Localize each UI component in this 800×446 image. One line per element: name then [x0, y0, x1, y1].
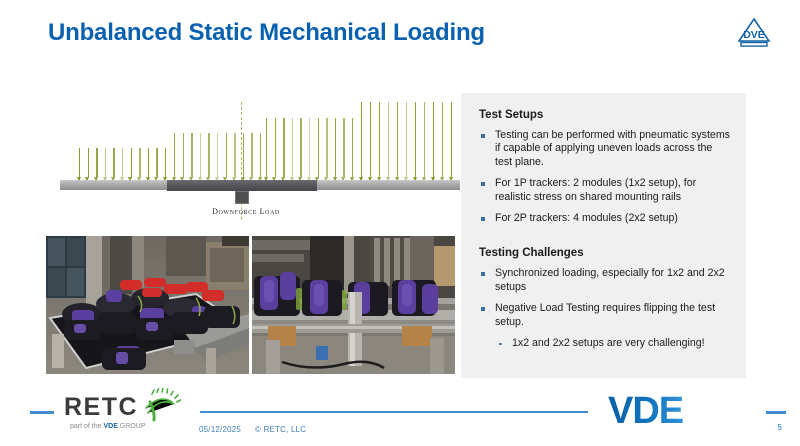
arrow-shaft [208, 133, 209, 178]
svg-text:DVE: DVE [743, 29, 765, 41]
arrow-shaft [260, 133, 261, 178]
arrow-shaft [300, 118, 301, 178]
arrow-shaft [191, 133, 192, 178]
beam-inner [167, 180, 317, 191]
arrow-shaft [275, 118, 276, 178]
arrow-shaft [217, 133, 218, 178]
svg-text:RETC: RETC [64, 393, 138, 421]
vde-approval-mark-icon: DVE [734, 14, 774, 54]
bullet-sub-item: 1x2 and 2x2 setups are very challenging! [479, 337, 732, 350]
page-number: 5 [778, 423, 782, 432]
load-arrow [173, 133, 176, 178]
arrow-shaft [415, 102, 416, 178]
bullet-list-testing-challenges: Synchronized loading, especially for 1x2… [479, 267, 732, 350]
arrow-shaft [96, 148, 97, 178]
load-arrow [274, 118, 277, 178]
load-arrow [369, 102, 372, 178]
arrow-shaft [183, 133, 184, 178]
load-arrow [342, 118, 345, 178]
arrow-shaft [251, 133, 252, 178]
arrow-shaft [156, 148, 157, 178]
arrow-shaft [442, 102, 443, 178]
section-heading-testing-challenges: Testing Challenges [479, 247, 732, 259]
load-arrow [291, 118, 294, 178]
arrow-shaft [266, 118, 267, 178]
arrow-shaft [79, 148, 80, 178]
retc-logo: RETC part of the VDE GROUP [64, 388, 194, 436]
load-arrow [242, 133, 245, 178]
arrow-shaft [113, 148, 114, 178]
arrow-shaft [292, 118, 293, 178]
load-arrow [87, 148, 90, 178]
load-arrow [396, 102, 399, 178]
bullet-item: Negative Load Testing requires flipping … [479, 302, 732, 329]
load-arrow [282, 118, 285, 178]
bullet-item: Synchronized loading, especially for 1x2… [479, 267, 732, 294]
load-arrow [225, 133, 228, 178]
load-arrow [95, 148, 98, 178]
load-arrow [182, 133, 185, 178]
arrow-shaft [370, 102, 371, 178]
beam-pedestal [235, 191, 249, 204]
arrow-shaft [226, 133, 227, 178]
arrow-shaft [361, 102, 362, 178]
load-arrow [387, 102, 390, 178]
page-title: Unbalanced Static Mechanical Loading [48, 19, 485, 47]
arrow-shaft [88, 148, 89, 178]
arrow-shaft [318, 118, 319, 178]
arrow-shaft [352, 118, 353, 178]
load-arrow [450, 102, 453, 178]
arrow-shaft [131, 148, 132, 178]
retc-tagline: part of the VDE GROUP [70, 423, 146, 430]
photo-sandbag-array-top-view [46, 236, 249, 374]
load-arrow [190, 133, 193, 178]
arrow-shaft [397, 102, 398, 178]
load-arrow [164, 148, 167, 178]
arrow-shaft [148, 148, 149, 178]
arrow-shaft [165, 148, 166, 178]
load-arrow [233, 133, 236, 178]
load-arrow [414, 102, 417, 178]
bullet-item: For 1P trackers: 2 modules (1x2 setup), … [479, 177, 732, 204]
bullet-list-test-setups: Testing can be performed with pneumatic … [479, 129, 732, 225]
footer-rule-left [30, 411, 54, 414]
arrow-shaft [174, 133, 175, 178]
arrow-shaft [379, 102, 380, 178]
arrow-shaft [343, 118, 344, 178]
section-heading-test-setups: Test Setups [479, 109, 732, 121]
load-arrow [216, 133, 219, 178]
svg-text:VDE: VDE [608, 391, 683, 429]
load-arrow [138, 148, 141, 178]
load-arrow [378, 102, 381, 178]
photo-sandbag-array-side-view [252, 236, 455, 374]
load-arrow [423, 102, 426, 178]
load-arrow [112, 148, 115, 178]
load-arrow [360, 102, 363, 178]
arrow-shaft [105, 148, 106, 178]
arrow-shaft [283, 118, 284, 178]
load-arrow [207, 133, 210, 178]
load-arrow [199, 133, 202, 178]
load-arrow [259, 133, 262, 178]
load-arrow [334, 118, 337, 178]
vde-wordmark-logo: VDE [608, 391, 758, 429]
load-arrow [441, 102, 444, 178]
load-arrow [121, 148, 124, 178]
load-arrow [155, 148, 158, 178]
load-arrow [78, 148, 81, 178]
footer-date: 05/12/2025 [199, 425, 241, 434]
load-arrow [325, 118, 328, 178]
arrow-shaft [326, 118, 327, 178]
load-arrow [308, 118, 311, 178]
arrow-shaft [234, 133, 235, 178]
downforce-load-diagram: Downforce Load [60, 100, 460, 222]
arrow-shaft [243, 133, 244, 178]
info-panel: Test Setups Testing can be performed wit… [461, 93, 746, 378]
slide: Unbalanced Static Mechanical Loading DVE… [0, 0, 800, 446]
load-arrow [265, 118, 268, 178]
arrow-shaft [309, 118, 310, 178]
arrow-shaft [406, 102, 407, 178]
load-arrow [432, 102, 435, 178]
arrow-shaft [424, 102, 425, 178]
arrow-shaft [122, 148, 123, 178]
arrow-shaft [433, 102, 434, 178]
bullet-item: Testing can be performed with pneumatic … [479, 129, 732, 169]
footer-rule-right [766, 411, 786, 414]
bullet-item: For 2P trackers: 4 modules (2x2 setup) [479, 212, 732, 225]
load-arrow [130, 148, 133, 178]
diagram-label: Downforce Load [156, 207, 336, 216]
load-arrow-field [60, 100, 460, 178]
arrow-shaft [139, 148, 140, 178]
arrow-shaft [335, 118, 336, 178]
load-arrow [351, 118, 354, 178]
arrow-shaft [388, 102, 389, 178]
footer-copyright: © RETC, LLC [255, 425, 306, 434]
footer-meta: 05/12/2025© RETC, LLC [199, 425, 306, 434]
load-arrow [405, 102, 408, 178]
footer-rule-middle [200, 411, 588, 413]
arrow-shaft [200, 133, 201, 178]
load-arrow [104, 148, 107, 178]
arrow-shaft [451, 102, 452, 178]
load-arrow [147, 148, 150, 178]
load-arrow [299, 118, 302, 178]
load-arrow [250, 133, 253, 178]
load-arrow [317, 118, 320, 178]
